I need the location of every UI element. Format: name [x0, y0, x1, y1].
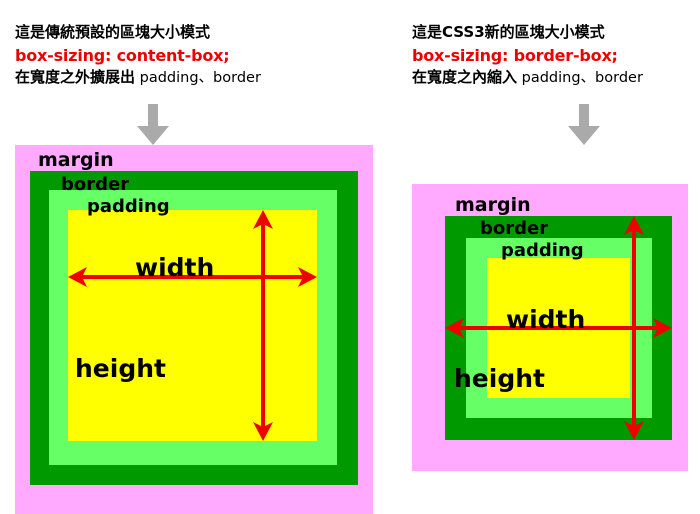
caption-right-code: box-sizing: border-box;	[412, 44, 643, 67]
caption-left-line1: 這是傳統預設的區塊大小模式	[15, 22, 261, 44]
caption-left-line3-en: padding、border	[135, 70, 261, 86]
arrow-down-icon-right	[567, 104, 601, 146]
diagram-border-box: margin border padding width height	[412, 184, 688, 471]
caption-right-line3: 在寬度之內縮入 padding、border	[412, 67, 643, 89]
dimension-arrows-content-box	[15, 145, 373, 514]
caption-content-box: 這是傳統預設的區塊大小模式 box-sizing: content-box; 在…	[15, 22, 261, 89]
caption-right-line3-cjk: 在寬度之內縮入	[412, 68, 517, 86]
caption-right-line3-en: padding、border	[517, 70, 643, 86]
arrow-down-icon-left	[136, 104, 170, 146]
caption-border-box: 這是CSS3新的區塊大小模式 box-sizing: border-box; 在…	[412, 22, 643, 89]
label-height-content-box: height	[75, 356, 166, 381]
caption-left-line3: 在寬度之外擴展出 padding、border	[15, 67, 261, 89]
caption-left-code: box-sizing: content-box;	[15, 44, 261, 67]
diagram-content-box: margin border padding width height	[15, 145, 373, 514]
caption-left-line3-cjk: 在寬度之外擴展出	[15, 68, 135, 86]
label-width-content-box: width	[135, 255, 214, 280]
label-width-border-box: width	[506, 307, 585, 332]
label-height-border-box: height	[454, 366, 545, 391]
caption-right-line1: 這是CSS3新的區塊大小模式	[412, 22, 643, 44]
